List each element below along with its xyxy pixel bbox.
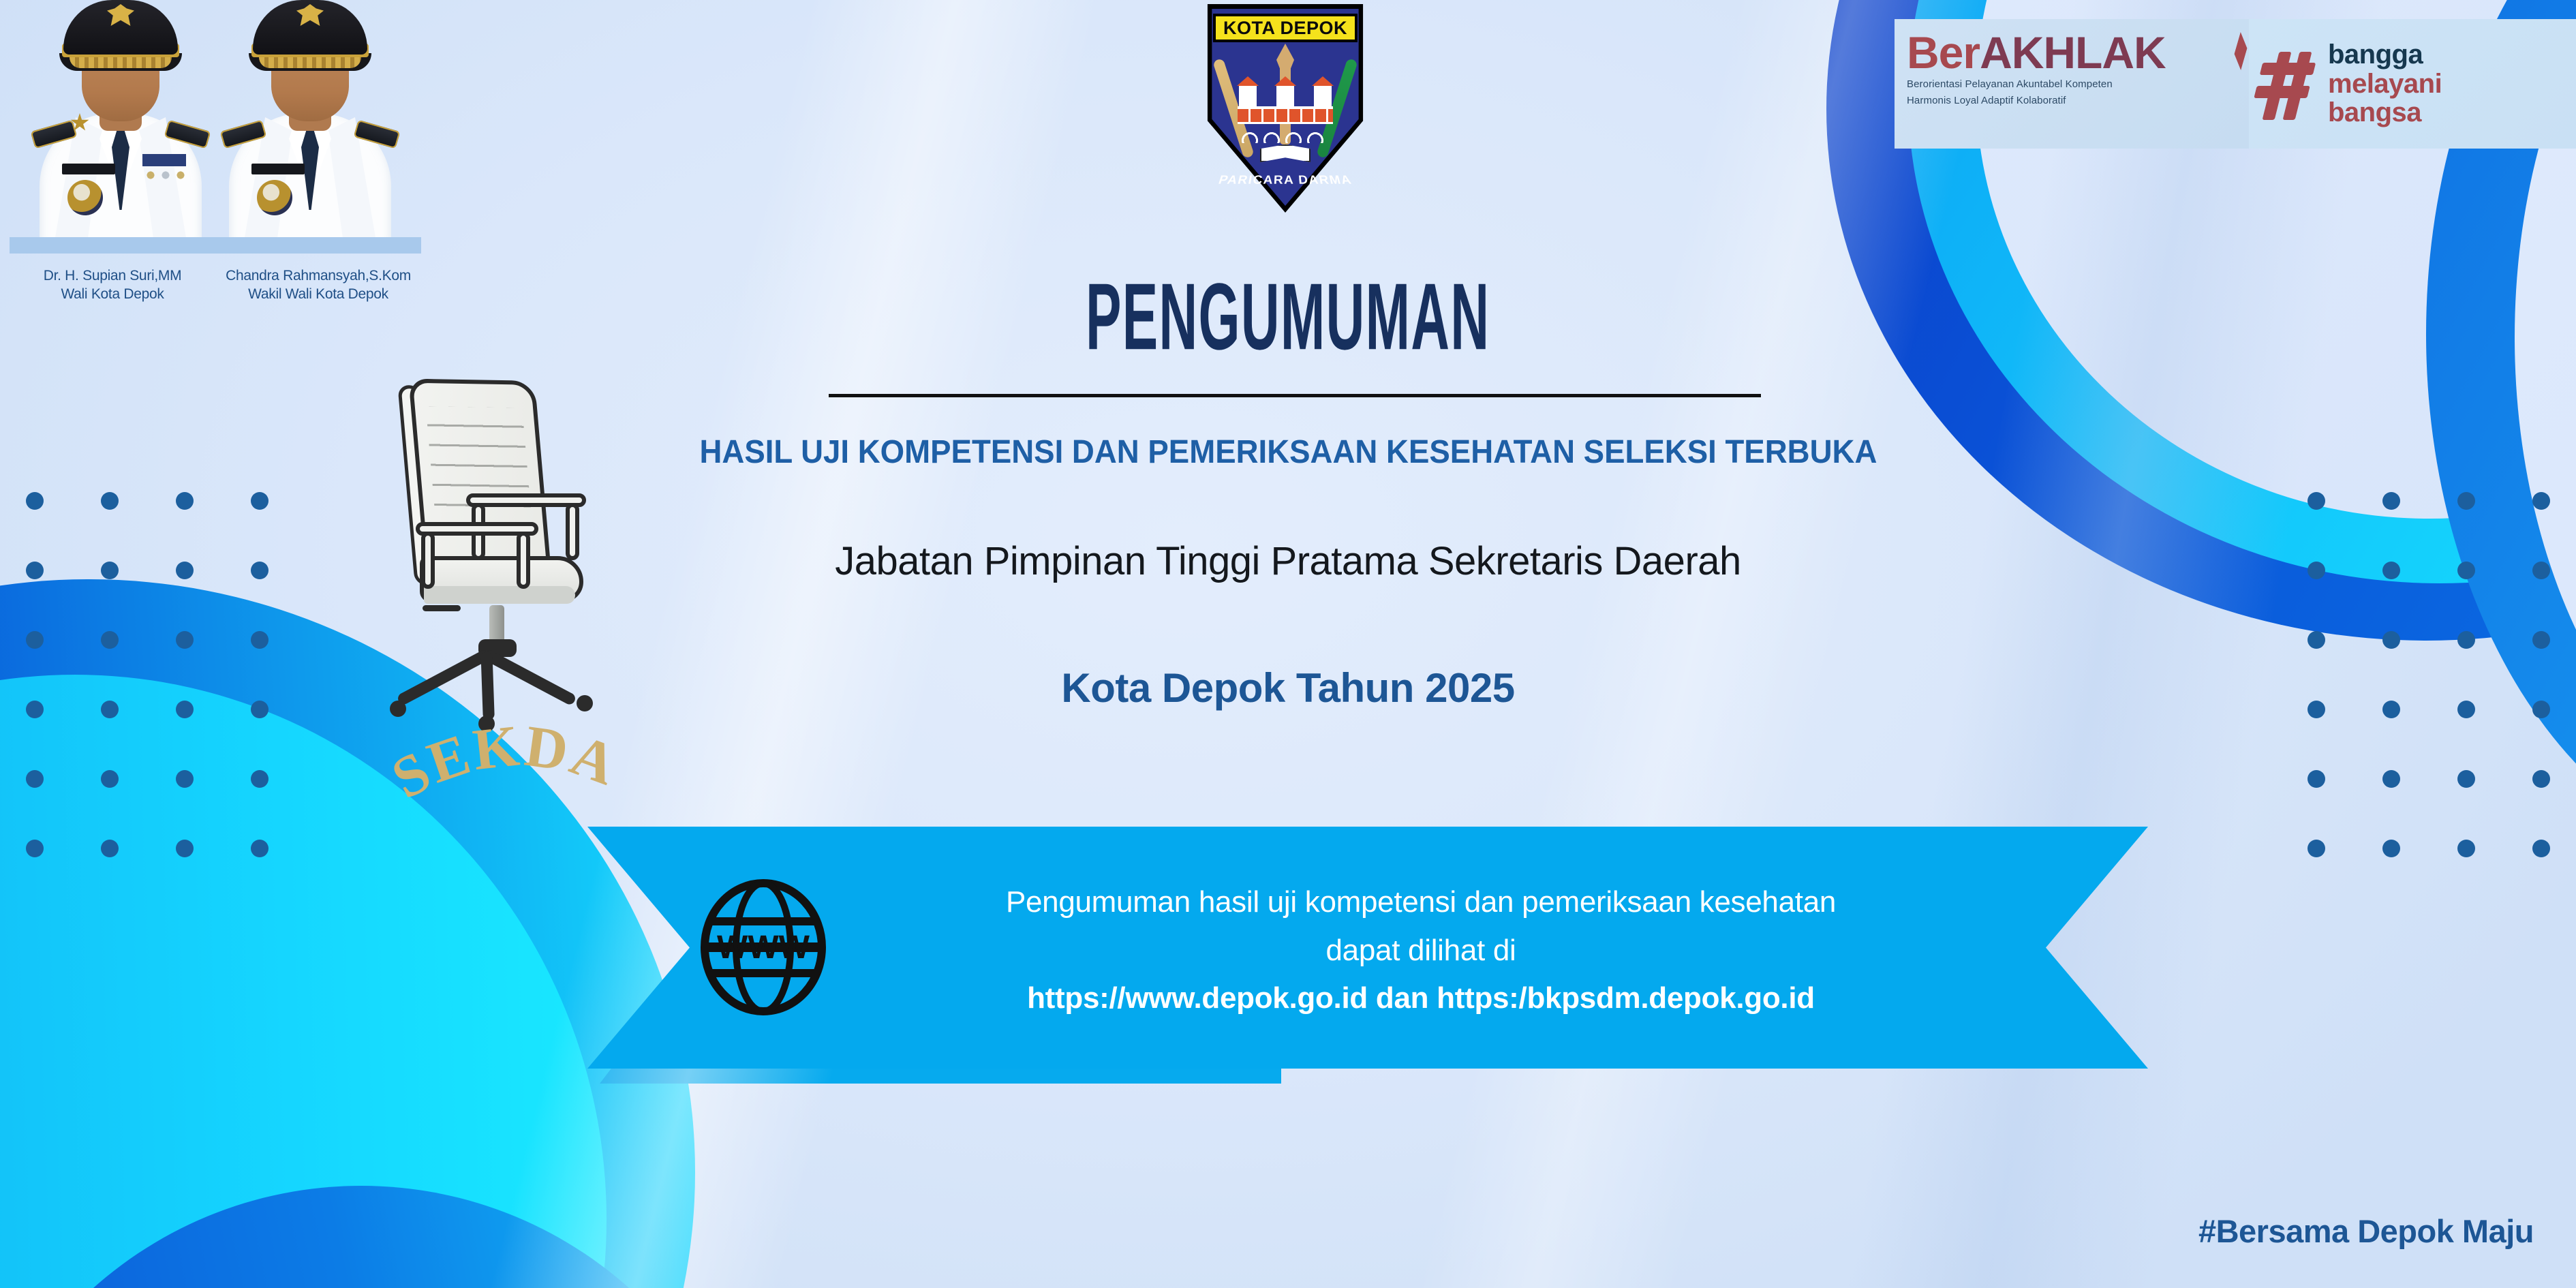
- subtitle-heading: HASIL UJI KOMPETENSI DAN PEMERIKSAAN KES…: [0, 433, 2576, 471]
- cap-visor-laurel: [70, 57, 172, 68]
- sekda-label: SEKDA: [382, 712, 627, 811]
- berakhlak-logo: BerAKHLAK Berorientasi Pelayanan Akuntab…: [1895, 19, 2249, 149]
- dot: [251, 631, 269, 649]
- leaders-portraits: [10, 0, 421, 254]
- dot: [2457, 840, 2475, 857]
- dot: [2532, 770, 2550, 788]
- sekda-wordmark: SEKDA: [397, 724, 628, 812]
- dot: [2532, 492, 2550, 510]
- dot: [251, 770, 269, 788]
- crest-motto: PARICARA DARMA: [1198, 174, 1373, 187]
- campaign-hashtag: #Bersama Depok Maju: [2198, 1212, 2534, 1250]
- crest-brick-wall: [1238, 106, 1333, 124]
- ribbon-text-block: Pengumuman hasil uji kompetensi dan peme…: [845, 850, 1997, 1048]
- dot: [26, 492, 44, 510]
- dot: [251, 492, 269, 510]
- crest-city-label: KOTA DEPOK: [1223, 18, 1347, 39]
- service-medals: [142, 154, 186, 185]
- ribbon-line-3-urls[interactable]: https://www.depok.go.id dan https:/bkpsd…: [1027, 976, 1815, 1021]
- chair-seat-lip: [424, 586, 575, 604]
- dot: [2307, 840, 2325, 857]
- dot: [2457, 631, 2475, 649]
- dot: [2382, 631, 2400, 649]
- berakhlak-values-line-1: Berorientasi Pelayanan Akuntabel Kompete…: [1907, 78, 2249, 91]
- www-globe-icon: WWW: [695, 879, 831, 1015]
- crest-water-waves: [1240, 128, 1330, 143]
- berakhlak-values-line-2: Harmonis Loyal Adaptif Kolaboratif: [1907, 94, 2249, 108]
- chest-badge: [257, 180, 292, 215]
- berakhlak-wordmark: BerAKHLAK: [1907, 30, 2249, 75]
- dot: [251, 840, 269, 857]
- dot: [26, 770, 44, 788]
- bangga-line-3: bangsa: [2328, 98, 2442, 127]
- subtitle-text: HASIL UJI KOMPETENSI DAN PEMERIKSAAN KES…: [699, 433, 1877, 471]
- dot: [176, 631, 194, 649]
- name-tag: [62, 164, 115, 174]
- name-tag: [251, 164, 305, 174]
- cap-visor-laurel: [259, 57, 361, 68]
- dot: [176, 492, 194, 510]
- dot: [101, 631, 119, 649]
- ribbon-line-1: Pengumuman hasil uji kompetensi dan peme…: [1006, 878, 1836, 926]
- ribbon-line-2: dapat dilihat di: [1326, 926, 1516, 975]
- dot: [2307, 631, 2325, 649]
- bangga-line-1: bangga: [2328, 40, 2442, 69]
- poster-canvas: Dr. H. Supian Suri,MM Wali Kota Depok Ch…: [0, 0, 2576, 1288]
- position-text: Jabatan Pimpinan Tinggi Pratama Sekretar…: [835, 539, 1741, 583]
- dot: [101, 770, 119, 788]
- dot: [2307, 770, 2325, 788]
- bangga-line-2: melayani: [2328, 70, 2442, 98]
- crest-houses: [1239, 85, 1332, 108]
- bangga-melayani-bangsa-logo: bangga melayani bangsa: [2249, 19, 2576, 149]
- dot: [2457, 492, 2475, 510]
- dot: [26, 631, 44, 649]
- position-line: Jabatan Pimpinan Tinggi Pratama Sekretar…: [0, 538, 2576, 584]
- year-line: Kota Depok Tahun 2025: [0, 664, 2576, 711]
- dot: [2307, 492, 2325, 510]
- dot: [26, 840, 44, 857]
- dot: [2382, 770, 2400, 788]
- portrait-mayor: [28, 0, 213, 254]
- dot: [101, 840, 119, 857]
- photo-baseline-strip: [10, 237, 421, 254]
- portrait-vice-mayor: [217, 0, 403, 254]
- chair-height-lever: [423, 605, 461, 611]
- chest-badge: [67, 180, 103, 215]
- hash-icon: [2253, 42, 2318, 125]
- svg-text:WWW: WWW: [717, 930, 810, 966]
- year-text: Kota Depok Tahun 2025: [1061, 665, 1514, 711]
- dot: [176, 840, 194, 857]
- dot: [2382, 492, 2400, 510]
- dot: [176, 770, 194, 788]
- title-divider: [829, 394, 1761, 397]
- kota-depok-crest-icon: KOTA DEPOK PARICARA DARMA: [1201, 4, 1370, 213]
- page-title-text: PENGUMUMAN: [1086, 262, 1490, 371]
- dot: [2382, 840, 2400, 857]
- crest-top-banner: KOTA DEPOK: [1213, 14, 1358, 42]
- dot: [2532, 631, 2550, 649]
- dot: [101, 492, 119, 510]
- dot: [2457, 770, 2475, 788]
- dot: [2532, 840, 2550, 857]
- page-title: PENGUMUMAN: [0, 273, 2576, 361]
- bangga-text: bangga melayani bangsa: [2328, 40, 2442, 127]
